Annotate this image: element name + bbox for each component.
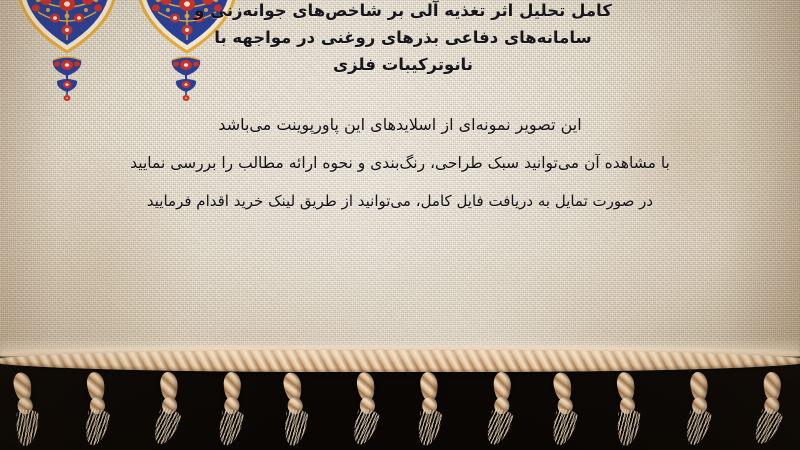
title-line-1: کامل تحلیل اثر تغذیه آلی بر شاخص‌های جوا…	[18, 0, 788, 24]
slide-title: کامل تحلیل اثر تغذیه آلی بر شاخص‌های جوا…	[18, 0, 788, 78]
slide-body: این تصویر نمونه‌ای از اسلایدهای این پاور…	[0, 106, 800, 220]
body-line-2: با مشاهده آن می‌توانید سبک طراحی، رنگ‌بن…	[0, 144, 800, 182]
title-line-2: سامانه‌های دفاعی بذرهای روغنی در مواجهه …	[18, 24, 788, 51]
body-line-3: در صورت تمایل به دریافت فایل کامل، می‌تو…	[0, 182, 800, 220]
body-line-1: این تصویر نمونه‌ای از اسلایدهای این پاور…	[0, 106, 800, 144]
title-line-3: نانوترکیبات فلزی	[18, 51, 788, 78]
carpet-fringe	[0, 335, 800, 450]
fringe-cord	[0, 350, 800, 372]
slide-canvas: کامل تحلیل اثر تغذیه آلی بر شاخص‌های جوا…	[0, 0, 800, 450]
